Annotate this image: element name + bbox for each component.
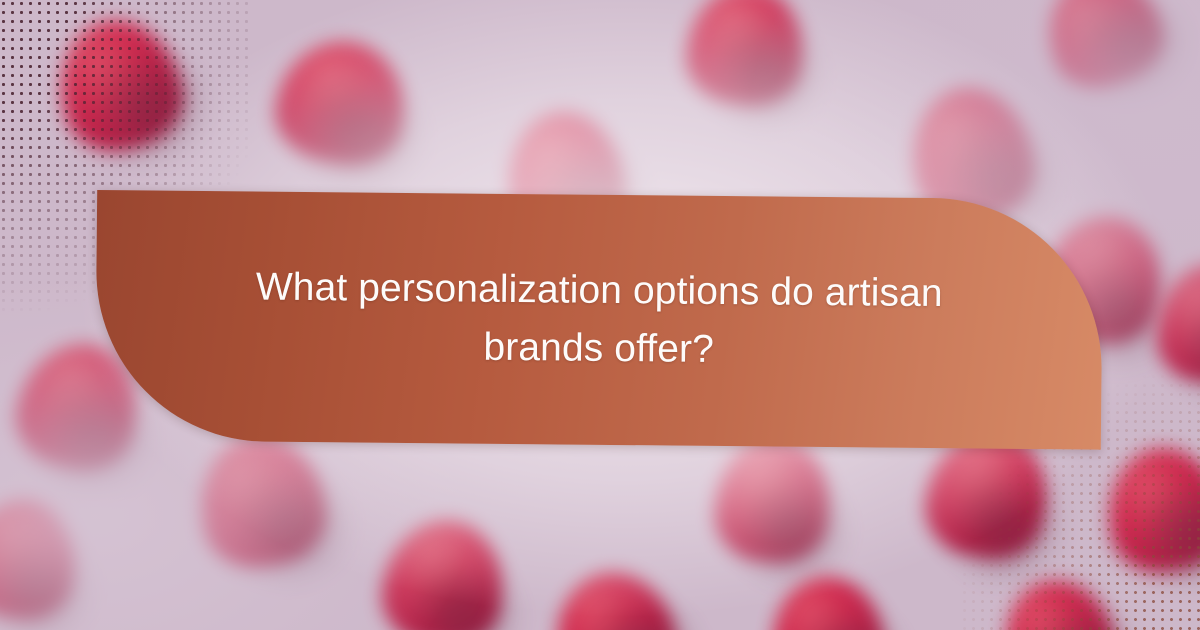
question-title: What personalization options do artisan … xyxy=(248,259,949,381)
question-card: What personalization options do artisan … xyxy=(0,0,1200,630)
question-banner: What personalization options do artisan … xyxy=(95,190,1103,450)
banner-text-container: What personalization options do artisan … xyxy=(95,190,1103,450)
